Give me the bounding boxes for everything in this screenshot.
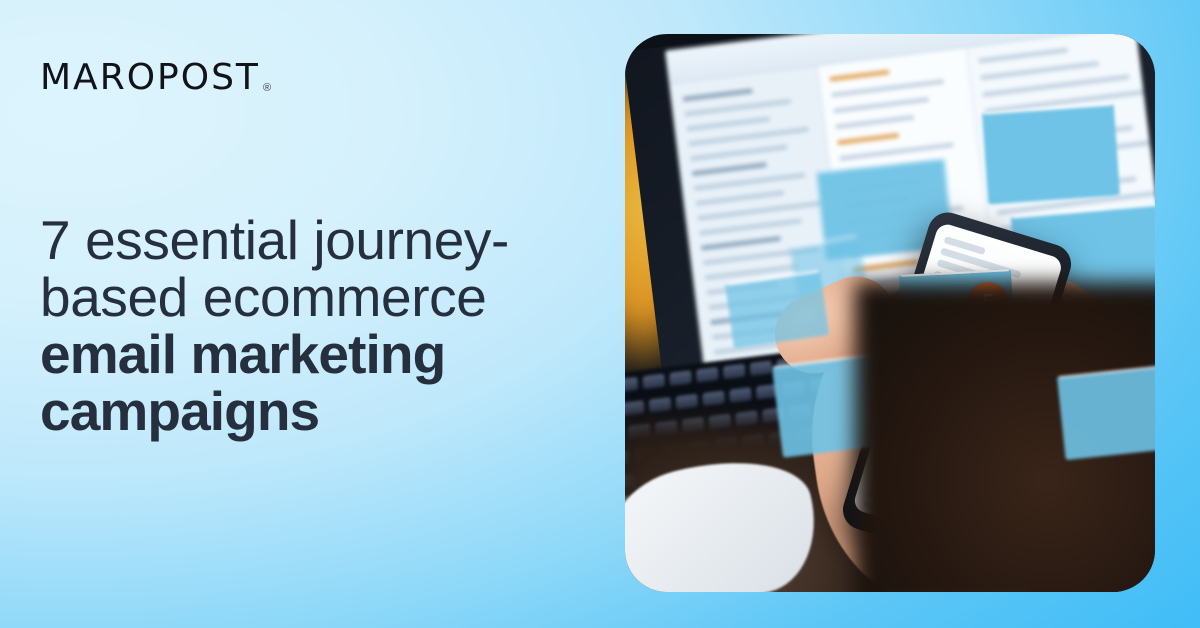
headline-line-1: 7 essential journey- (40, 212, 580, 269)
headline-line-3: email marketing (40, 326, 580, 383)
logo-wordmark: MAROPOST (40, 60, 260, 96)
envelope-icon (725, 270, 829, 349)
envelope-icon (982, 104, 1120, 205)
trademark-icon: ® (263, 82, 271, 94)
text-panel: MAROPOST ® 7 essential journey- based ec… (0, 0, 600, 628)
maropost-logo: MAROPOST ® (40, 60, 271, 96)
headline-line-4: campaigns (40, 383, 580, 440)
social-share-card: MAROPOST ® 7 essential journey- based ec… (0, 0, 1200, 628)
headline-line-2: based ecommerce (40, 269, 580, 326)
envelope-icon (1057, 364, 1155, 460)
hero-photo: 5 (625, 34, 1155, 592)
page-title: 7 essential journey- based ecommerce ema… (40, 212, 580, 440)
